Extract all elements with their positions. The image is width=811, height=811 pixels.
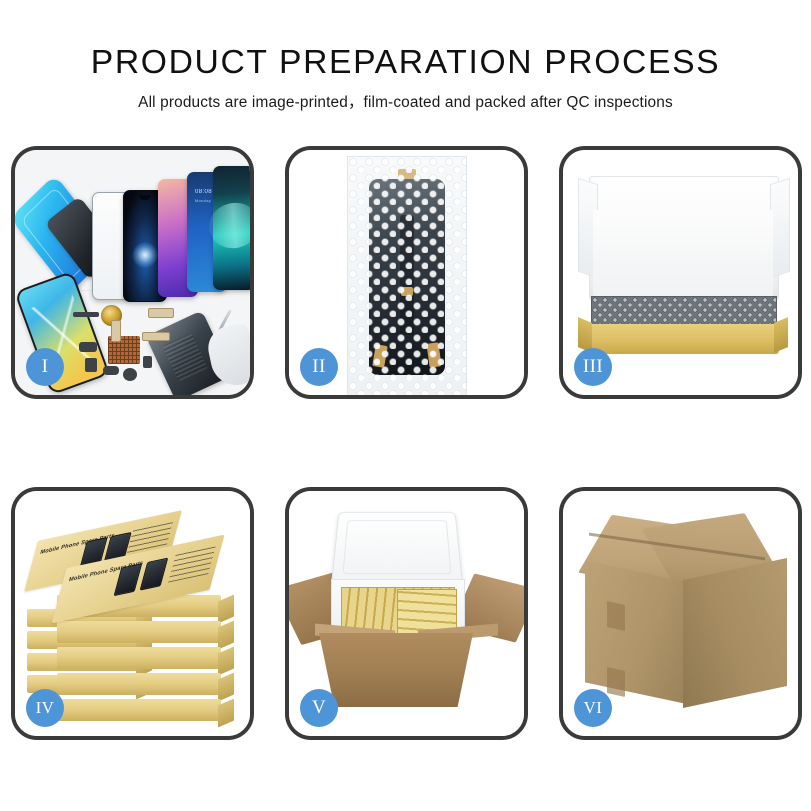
process-step-panel-5[interactable]: V <box>285 487 528 740</box>
speaker-part <box>103 366 119 375</box>
box-art-screen-b2 <box>140 558 169 591</box>
earpiece-speaker-part <box>73 312 99 317</box>
step-badge-4: IV <box>26 689 64 727</box>
carton-tape-upper <box>607 601 625 631</box>
box-side <box>218 698 234 727</box>
carton-front-face <box>319 633 473 707</box>
process-step-panel-2[interactable]: II <box>285 146 528 399</box>
box-spec-lines-lower <box>168 544 216 582</box>
gold-box-base <box>587 324 779 354</box>
bubble-wrap-bag <box>347 156 467 395</box>
page-subtitle: All products are image-printed，film-coat… <box>0 90 811 112</box>
phone-screen-date: Monday <box>195 198 211 203</box>
page-header: PRODUCT PREPARATION PROCESS All products… <box>0 0 811 112</box>
box-side <box>218 620 234 649</box>
vibrator-part <box>123 368 137 381</box>
sim-tray-part <box>143 356 152 368</box>
box-side <box>218 672 234 701</box>
step-badge-5: V <box>300 689 338 727</box>
taptic-engine-part <box>85 358 97 372</box>
process-step-panel-6[interactable]: VI <box>559 487 802 740</box>
teal-phone <box>213 166 250 290</box>
box-side <box>218 646 234 675</box>
white-foam-sheet <box>593 210 773 296</box>
step-badge-6: VI <box>574 689 612 727</box>
gold-box-r4 <box>57 673 221 695</box>
phone-screen-clock: 08:08 <box>195 189 212 195</box>
carton-tape-lower <box>607 667 625 697</box>
gold-box-r3 <box>57 647 221 669</box>
bubble-texture <box>348 157 466 395</box>
process-step-panel-1[interactable]: 08:08 Monday I <box>11 146 254 399</box>
process-step-panel-4[interactable]: Mobile Phone Spare Parts Mobile Phone Sp… <box>11 487 254 740</box>
page-title: PRODUCT PREPARATION PROCESS <box>0 44 811 81</box>
carton-left-face <box>585 560 685 703</box>
process-step-panel-3[interactable]: III <box>559 146 802 399</box>
step-badge-3: III <box>574 348 612 386</box>
carton-right-face <box>683 558 787 708</box>
step-badge-2: II <box>300 348 338 386</box>
flex-cable-c <box>111 320 121 342</box>
flex-cable-b <box>142 332 170 341</box>
process-step-grid: 08:08 Monday I <box>11 146 801 740</box>
step-badge-1: I <box>26 348 64 386</box>
gold-box-r2 <box>57 621 221 643</box>
box-side <box>218 594 234 623</box>
foam-box-lid <box>331 512 463 585</box>
camera-module-part <box>79 342 97 352</box>
flex-cable-a <box>148 308 174 318</box>
gold-box-r5 <box>57 699 221 721</box>
